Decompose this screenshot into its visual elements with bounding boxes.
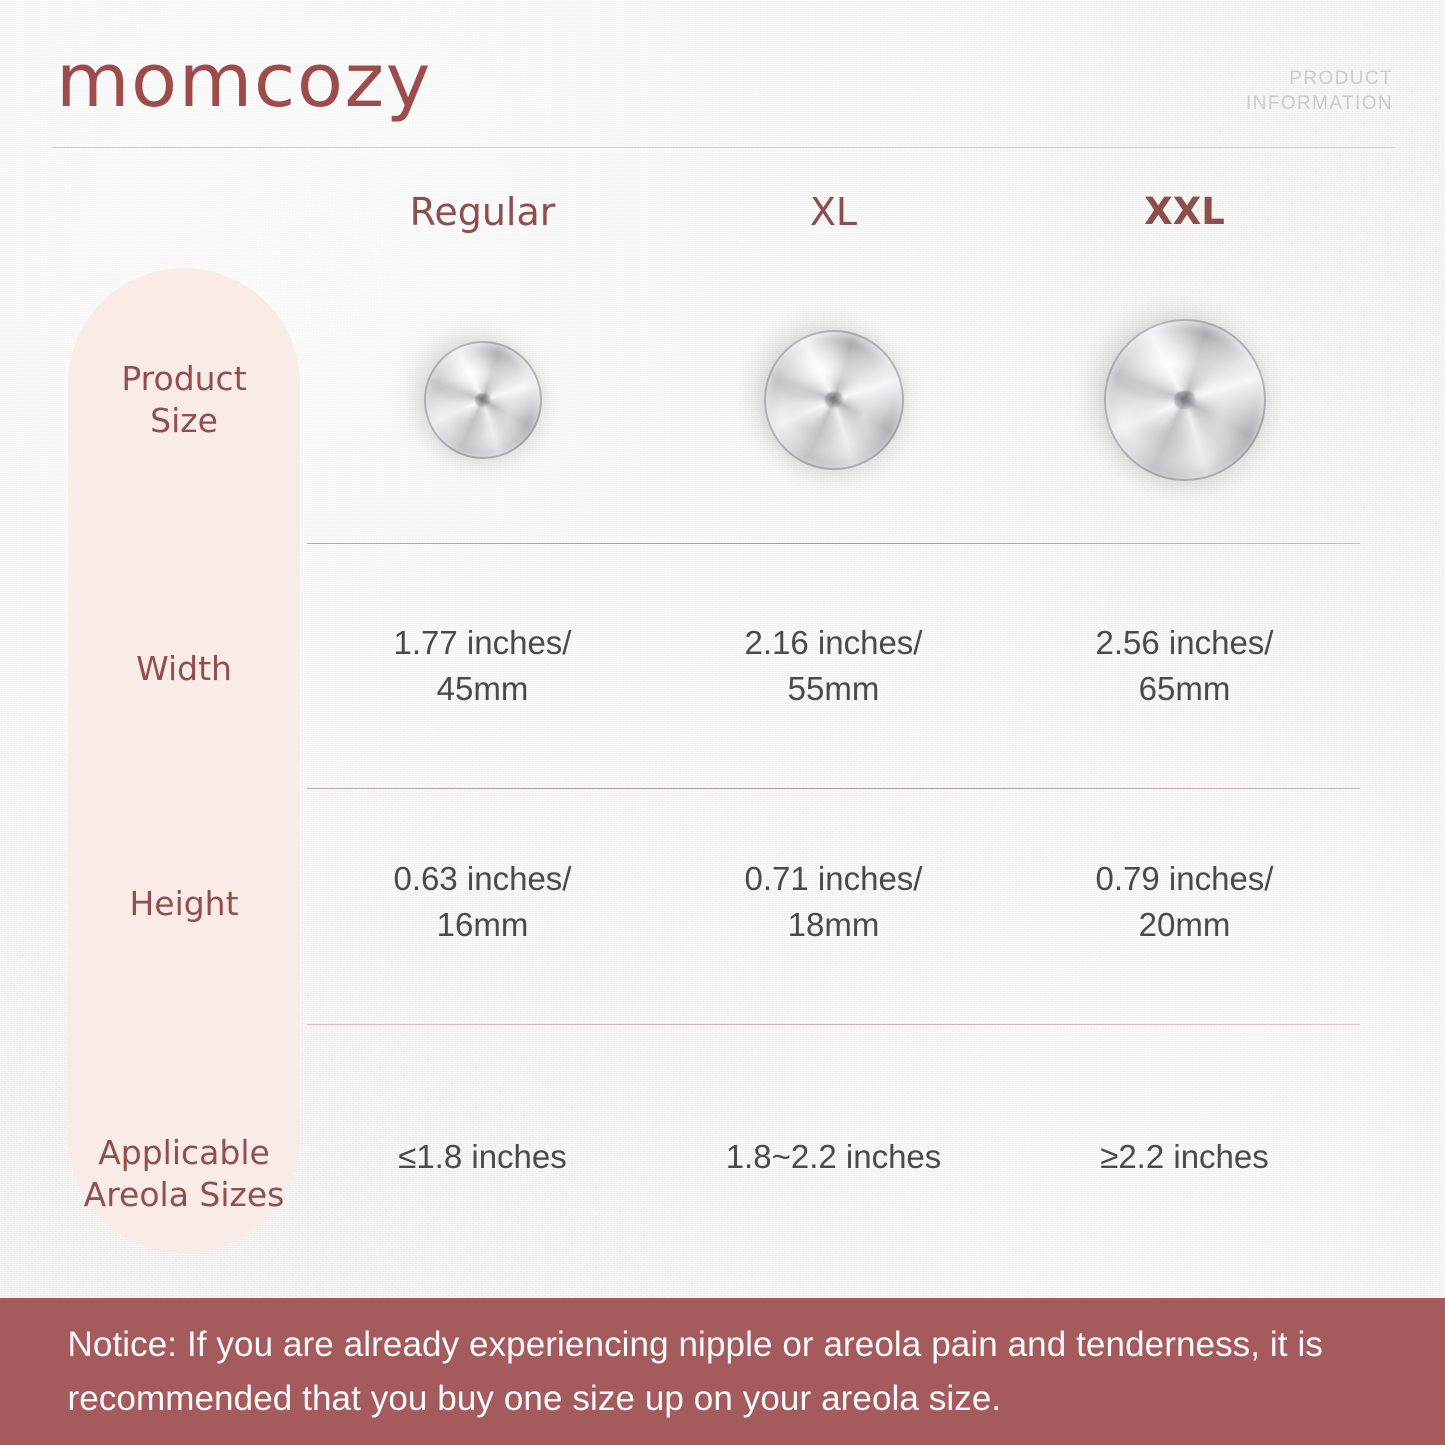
cell-width-xxl-line2: 65mm bbox=[1009, 666, 1360, 712]
product-disc-xxl-rim bbox=[1104, 319, 1266, 481]
row-label-width-line1: Width bbox=[68, 648, 300, 690]
product-disc-row bbox=[307, 250, 1360, 550]
row-label-width: Width bbox=[68, 648, 300, 690]
cell-areola-xxl: ≥2.2 inches bbox=[1009, 1134, 1360, 1180]
cell-height-xxl-line1: 0.79 inches/ bbox=[1009, 856, 1360, 902]
cell-height-xxl: 0.79 inches/ 20mm bbox=[1009, 856, 1360, 948]
table-row-areola-sizes-cells: ≤1.8 inches 1.8~2.2 inches ≥2.2 inches bbox=[307, 1134, 1360, 1180]
row-label-product-size-line1: Product bbox=[68, 358, 300, 400]
cell-width-xl-line2: 55mm bbox=[658, 666, 1009, 712]
page-header: momcozy PRODUCT INFORMATION bbox=[0, 0, 1445, 150]
product-disc-slot-xl bbox=[658, 250, 1009, 550]
notice-banner: Notice: If you are already experiencing … bbox=[0, 1298, 1445, 1445]
cell-height-regular-line2: 16mm bbox=[307, 902, 658, 948]
header-kicker-line1: PRODUCT bbox=[1246, 66, 1393, 91]
product-disc-slot-regular bbox=[307, 250, 658, 550]
product-disc-xl-icon bbox=[764, 330, 904, 470]
cell-width-xxl: 2.56 inches/ 65mm bbox=[1009, 620, 1360, 712]
notice-banner-text: Notice: If you are already experiencing … bbox=[68, 1318, 1378, 1426]
table-row-height: Height 0.63 inches/ 16mm 0.71 inches/ 18… bbox=[0, 808, 1445, 1013]
table-divider-3 bbox=[307, 1024, 1360, 1025]
row-label-height: Height bbox=[68, 883, 300, 925]
column-header-xl: XL bbox=[658, 190, 1009, 234]
table-row-width: Width 1.77 inches/ 45mm 2.16 inches/ 55m… bbox=[0, 570, 1445, 780]
cell-width-regular-line1: 1.77 inches/ bbox=[307, 620, 658, 666]
row-label-product-size: Product Size bbox=[68, 358, 300, 442]
row-label-product-size-line2: Size bbox=[68, 400, 300, 442]
cell-height-xl: 0.71 inches/ 18mm bbox=[658, 856, 1009, 948]
cell-height-xl-line2: 18mm bbox=[658, 902, 1009, 948]
table-row-width-cells: 1.77 inches/ 45mm 2.16 inches/ 55mm 2.56… bbox=[307, 620, 1360, 712]
row-label-areola-sizes-line2: Areola Sizes bbox=[68, 1174, 300, 1216]
row-label-areola-sizes-line1: Applicable bbox=[68, 1132, 300, 1174]
header-divider bbox=[52, 147, 1395, 148]
column-header-regular: Regular bbox=[307, 190, 658, 234]
row-label-height-line1: Height bbox=[68, 883, 300, 925]
row-label-areola-sizes: Applicable Areola Sizes bbox=[68, 1132, 300, 1216]
table-row-height-cells: 0.63 inches/ 16mm 0.71 inches/ 18mm 0.79… bbox=[307, 856, 1360, 948]
product-disc-regular-rim bbox=[424, 341, 542, 459]
table-row-product-size: Product Size bbox=[0, 250, 1445, 550]
product-disc-regular-icon bbox=[424, 341, 542, 459]
product-information-page: momcozy PRODUCT INFORMATION Regular XL X… bbox=[0, 0, 1445, 1445]
header-kicker: PRODUCT INFORMATION bbox=[1246, 66, 1393, 116]
header-kicker-line2: INFORMATION bbox=[1246, 91, 1393, 116]
cell-areola-regular: ≤1.8 inches bbox=[307, 1134, 658, 1180]
cell-height-regular: 0.63 inches/ 16mm bbox=[307, 856, 658, 948]
cell-width-xl: 2.16 inches/ 55mm bbox=[658, 620, 1009, 712]
cell-height-xl-line1: 0.71 inches/ bbox=[658, 856, 1009, 902]
cell-width-xl-line1: 2.16 inches/ bbox=[658, 620, 1009, 666]
product-disc-slot-xxl bbox=[1009, 250, 1360, 550]
brand-logo: momcozy bbox=[56, 44, 432, 118]
table-row-areola-sizes: Applicable Areola Sizes ≤1.8 inches 1.8~… bbox=[0, 1046, 1445, 1276]
cell-width-regular: 1.77 inches/ 45mm bbox=[307, 620, 658, 712]
cell-height-xxl-line2: 20mm bbox=[1009, 902, 1360, 948]
table-column-headers: Regular XL XXL bbox=[307, 190, 1360, 234]
product-disc-xxl-icon bbox=[1104, 319, 1266, 481]
cell-width-regular-line2: 45mm bbox=[307, 666, 658, 712]
product-disc-xl-rim bbox=[764, 330, 904, 470]
table-divider-1 bbox=[307, 543, 1360, 544]
cell-areola-xl: 1.8~2.2 inches bbox=[658, 1134, 1009, 1180]
cell-width-xxl-line1: 2.56 inches/ bbox=[1009, 620, 1360, 666]
cell-height-regular-line1: 0.63 inches/ bbox=[307, 856, 658, 902]
table-divider-2 bbox=[307, 788, 1360, 789]
column-header-xxl: XXL bbox=[1009, 190, 1360, 234]
